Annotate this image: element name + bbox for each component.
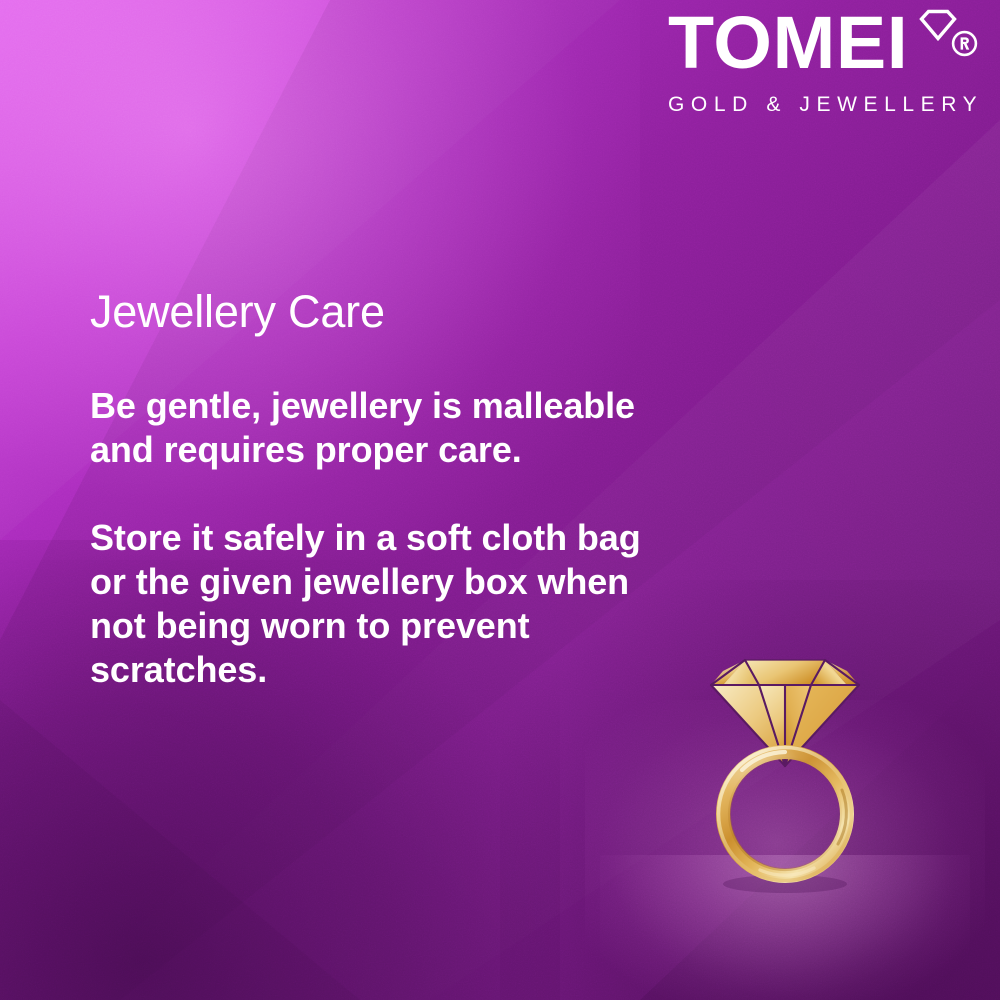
brand-tagline: GOLD & JEWELLERY xyxy=(668,93,988,117)
care-paragraph-2: Store it safely in a soft cloth bag or t… xyxy=(90,516,650,692)
poster-canvas: TOMEI GOLD & JEWELLERY Jewellery Care Be… xyxy=(0,0,1000,1000)
brand-logo: TOMEI GOLD & JEWELLERY xyxy=(668,6,988,117)
brand-wordmark: TOMEI xyxy=(668,6,908,80)
page-title: Jewellery Care xyxy=(90,286,700,338)
brand-wordmark-row: TOMEI xyxy=(668,6,988,80)
registered-trademark-icon xyxy=(951,30,978,57)
care-paragraph-1: Be gentle, jewellery is malleable and re… xyxy=(90,384,650,472)
copy-block: Jewellery Care Be gentle, jewellery is m… xyxy=(90,286,700,692)
